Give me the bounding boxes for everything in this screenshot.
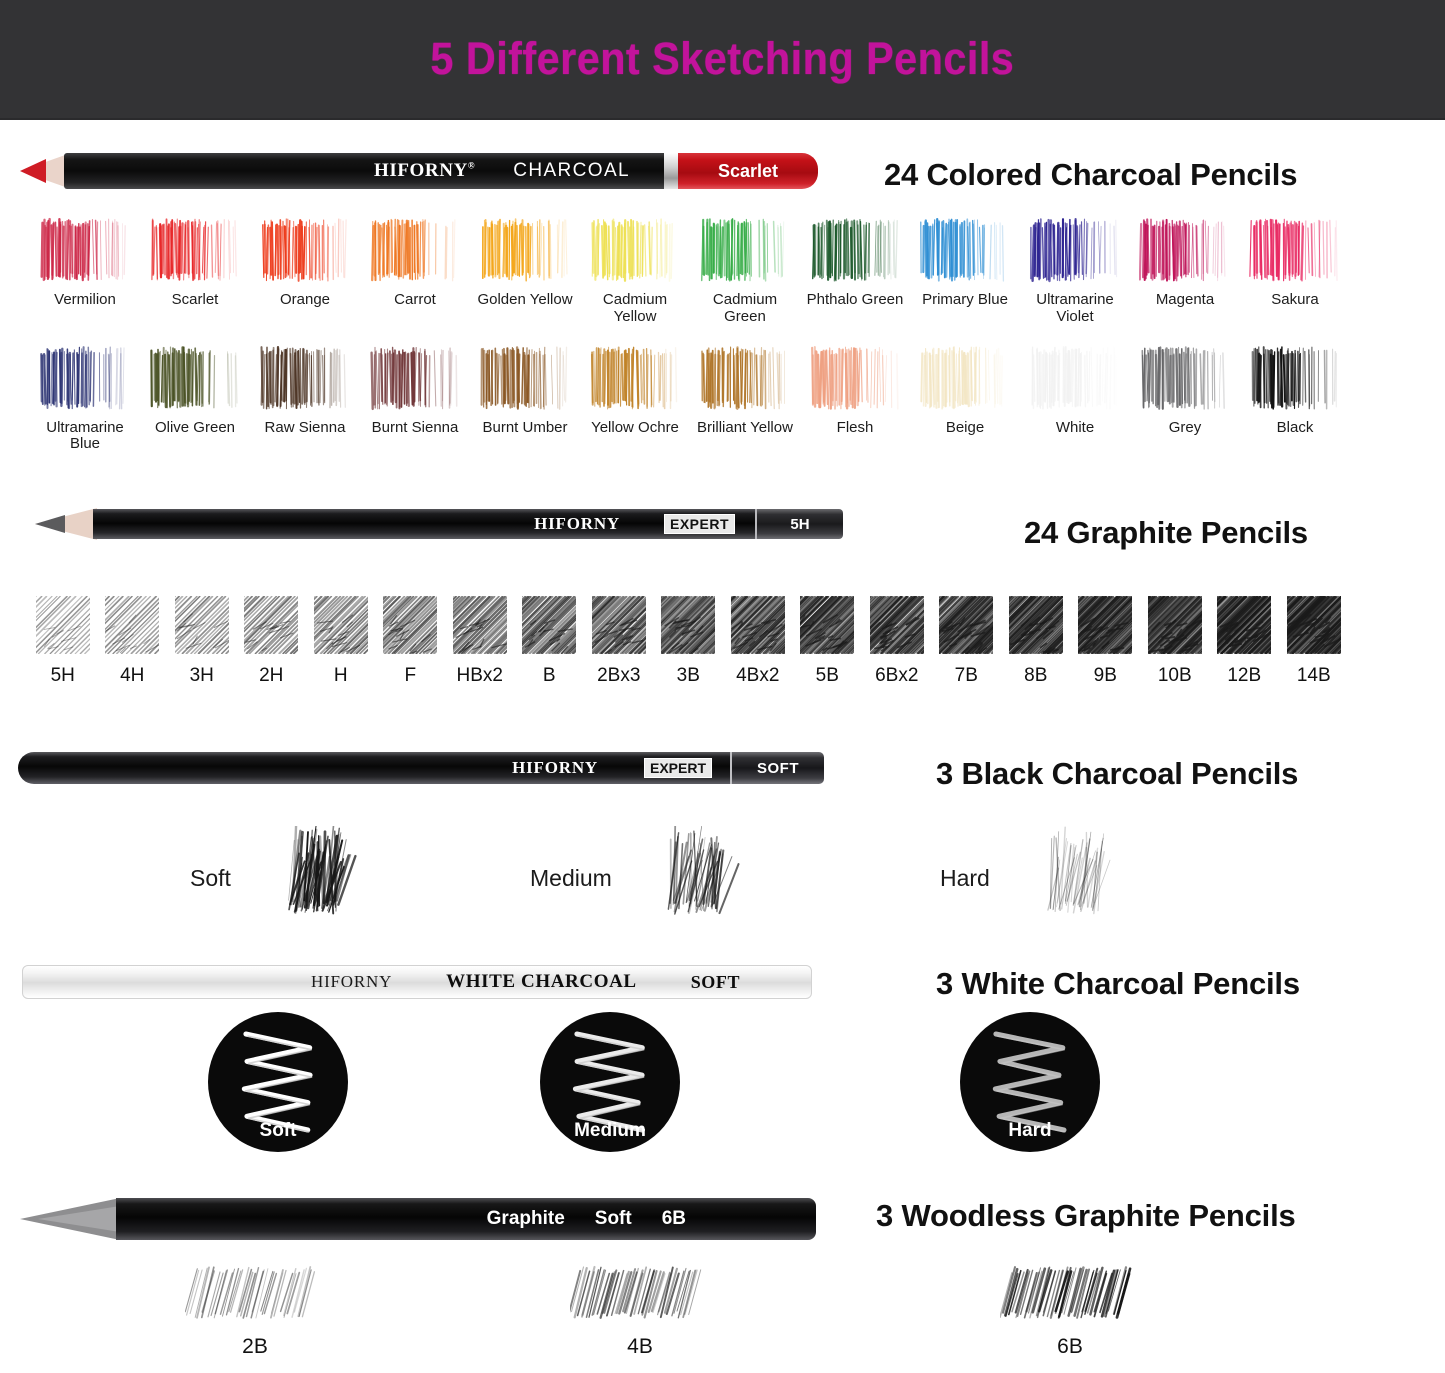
charcoal-sample: Medium bbox=[530, 826, 745, 931]
woodless-sample-mark bbox=[570, 1262, 710, 1329]
graphite-swatch-mark bbox=[661, 596, 715, 654]
color-swatch: Orange bbox=[250, 214, 360, 326]
graphite-swatch-label: 3B bbox=[677, 665, 700, 687]
color-swatch-mark bbox=[149, 342, 241, 414]
color-swatch: Brilliant Yellow bbox=[690, 342, 800, 454]
black-charcoal-sample-row: SoftMediumHard bbox=[0, 826, 1445, 936]
woodless-sample: 6B bbox=[1000, 1262, 1140, 1359]
pencil-line-badge: EXPERT bbox=[664, 514, 735, 534]
graphite-swatch-mark bbox=[592, 596, 646, 654]
graphite-swatch: 3H bbox=[167, 596, 237, 687]
color-swatch-label: Golden Yellow bbox=[473, 292, 577, 309]
color-swatch-mark bbox=[259, 342, 351, 414]
black-charcoal-pencil-image: HIFORNY EXPERT SOFT bbox=[18, 748, 818, 792]
graphite-swatch-label: HBx2 bbox=[457, 665, 503, 687]
woodless-sample-label: 2B bbox=[242, 1335, 268, 1359]
pencil-grade-label: 6B bbox=[662, 1208, 686, 1230]
heading-woodless-graphite: 3 Woodless Graphite Pencils bbox=[876, 1198, 1296, 1234]
graphite-swatch-mark bbox=[1009, 596, 1063, 654]
graphite-swatch-label: 4Bx2 bbox=[736, 665, 779, 687]
graphite-swatch: 10B bbox=[1140, 596, 1210, 687]
graphite-swatch: 7B bbox=[932, 596, 1002, 687]
graphite-swatch-label: 14B bbox=[1297, 665, 1331, 687]
color-swatch: Magenta bbox=[1130, 214, 1240, 326]
color-swatch-mark bbox=[479, 342, 571, 414]
graphite-swatch: H bbox=[306, 596, 376, 687]
graphite-swatch: HBx2 bbox=[445, 596, 515, 687]
color-swatch-mark bbox=[919, 214, 1011, 286]
pencil-graphite-cone-inner bbox=[38, 1206, 120, 1232]
pencil-body: HIFORNY EXPERT bbox=[18, 752, 730, 784]
color-swatch: Phthalo Green bbox=[800, 214, 910, 326]
white-charcoal-sample: Soft bbox=[208, 1012, 348, 1152]
color-swatch-mark bbox=[809, 342, 901, 414]
color-swatch: Vermilion bbox=[30, 214, 140, 326]
color-swatch-label: Vermilion bbox=[33, 292, 137, 309]
woodless-sample-label: 4B bbox=[627, 1335, 653, 1359]
color-swatch-mark bbox=[919, 342, 1011, 414]
color-swatch-label: Primary Blue bbox=[913, 292, 1017, 309]
graphite-swatch-label: 8B bbox=[1024, 665, 1047, 687]
woodless-graphite-pencil-image: Graphite Soft 6B bbox=[20, 1192, 820, 1244]
charcoal-sample-label: Soft bbox=[190, 865, 231, 892]
pencil-grade-label: 5H bbox=[790, 516, 809, 533]
color-swatch-label: Cadmium Yellow bbox=[583, 292, 687, 326]
heading-white-charcoal: 3 White Charcoal Pencils bbox=[936, 966, 1300, 1002]
color-swatch: Golden Yellow bbox=[470, 214, 580, 326]
color-swatch-mark bbox=[39, 342, 131, 414]
color-swatch-label: Brilliant Yellow bbox=[693, 420, 797, 437]
pencil-line-badge: EXPERT bbox=[644, 758, 712, 778]
color-swatch-mark bbox=[1029, 342, 1121, 414]
color-swatch-label: Flesh bbox=[803, 420, 907, 437]
graphite-swatch-label: 7B bbox=[955, 665, 978, 687]
color-swatch-label: Sakura bbox=[1243, 292, 1347, 309]
color-swatch-label: Ultramarine Blue bbox=[33, 420, 137, 454]
color-swatch: Grey bbox=[1130, 342, 1240, 454]
color-swatch-mark bbox=[589, 214, 681, 286]
graphite-swatch-mark bbox=[453, 596, 507, 654]
color-swatch-mark bbox=[589, 342, 681, 414]
graphite-swatch-mark bbox=[105, 596, 159, 654]
graphite-swatch: 12B bbox=[1210, 596, 1280, 687]
heading-graphite: 24 Graphite Pencils bbox=[1024, 515, 1308, 551]
graphite-swatch-label: 5H bbox=[51, 665, 75, 687]
graphite-hatch-grid: 5H4H3H2HHFHBx2B2Bx33B4Bx25B6Bx27B8B9B10B… bbox=[28, 596, 1349, 687]
graphite-swatch-label: 3H bbox=[190, 665, 214, 687]
pencil-lead-tip bbox=[35, 515, 65, 533]
charcoal-sample: Hard bbox=[940, 826, 1123, 931]
pencil-grade-label: SOFT bbox=[757, 760, 799, 777]
graphite-swatch: 8B bbox=[1001, 596, 1071, 687]
graphite-swatch: 5B bbox=[793, 596, 863, 687]
graphite-swatch-label: 2Bx3 bbox=[597, 665, 640, 687]
heading-colored-charcoal: 24 Colored Charcoal Pencils bbox=[884, 157, 1297, 193]
charcoal-sample-label: Medium bbox=[530, 865, 612, 892]
color-swatch-label: Carrot bbox=[363, 292, 467, 309]
graphite-swatch-label: 12B bbox=[1227, 665, 1261, 687]
graphite-swatch-label: 9B bbox=[1094, 665, 1117, 687]
page-header: 5 Different Sketching Pencils bbox=[0, 0, 1445, 120]
color-swatch-label: Magenta bbox=[1133, 292, 1237, 309]
graphite-swatch: F bbox=[376, 596, 446, 687]
color-swatch-label: Burnt Umber bbox=[473, 420, 577, 437]
graphite-swatch-mark bbox=[1217, 596, 1271, 654]
graphite-swatch: 2Bx3 bbox=[584, 596, 654, 687]
graphite-swatch-label: 6Bx2 bbox=[875, 665, 918, 687]
color-swatch-label: Ultramarine Violet bbox=[1023, 292, 1127, 326]
graphite-swatch-mark bbox=[1148, 596, 1202, 654]
white-charcoal-pencil-image: HIFORNY WHITE CHARCOAL SOFT bbox=[22, 962, 822, 1006]
pencil-brand: HIFORNY bbox=[512, 758, 598, 778]
white-charcoal-sample: Hard bbox=[960, 1012, 1100, 1152]
graphite-swatch-mark bbox=[175, 596, 229, 654]
color-swatch-mark bbox=[1249, 342, 1341, 414]
colored-swatch-grid: VermilionScarletOrangeCarrotGolden Yello… bbox=[30, 214, 1360, 453]
pencil-color-end: Scarlet bbox=[678, 153, 818, 189]
graphite-swatch-mark bbox=[383, 596, 437, 654]
charcoal-sample-mark bbox=[239, 826, 364, 931]
color-swatch: Sakura bbox=[1240, 214, 1350, 326]
graphite-swatch: B bbox=[515, 596, 585, 687]
pencil-hardness-label: Soft bbox=[595, 1208, 632, 1230]
pencil-grade-label: SOFT bbox=[691, 972, 740, 993]
pencil-type-label: Graphite bbox=[487, 1208, 565, 1230]
graphite-swatch: 6Bx2 bbox=[862, 596, 932, 687]
color-swatch: Carrot bbox=[360, 214, 470, 326]
white-charcoal-sample-label: Medium bbox=[574, 1120, 646, 1152]
color-swatch: Ultramarine Violet bbox=[1020, 214, 1130, 326]
pencil-grade-label: Scarlet bbox=[718, 161, 778, 182]
pencil-type-label: CHARCOAL bbox=[513, 160, 630, 182]
color-swatch-mark bbox=[1139, 214, 1231, 286]
color-swatch: Flesh bbox=[800, 342, 910, 454]
color-swatch: Burnt Umber bbox=[470, 342, 580, 454]
woodless-sample: 4B bbox=[570, 1262, 710, 1359]
color-swatch-mark bbox=[39, 214, 131, 286]
heading-black-charcoal: 3 Black Charcoal Pencils bbox=[936, 756, 1298, 792]
pencil-lead-tip bbox=[20, 159, 46, 183]
pencil-brand: HIFORNY bbox=[311, 972, 392, 992]
graphite-swatch-label: B bbox=[543, 665, 556, 687]
woodless-sample-mark bbox=[185, 1262, 325, 1329]
color-swatch-mark bbox=[369, 342, 461, 414]
graphite-pencil-image: HIFORNY EXPERT 5H bbox=[35, 500, 830, 550]
woodless-sample: 2B bbox=[185, 1262, 325, 1359]
graphite-swatch-mark bbox=[314, 596, 368, 654]
color-swatch-mark bbox=[699, 214, 791, 286]
white-charcoal-sample-row: SoftMediumHard bbox=[0, 1012, 1445, 1172]
color-swatch: Olive Green bbox=[140, 342, 250, 454]
graphite-swatch-label: 2H bbox=[259, 665, 283, 687]
color-swatch-mark bbox=[1249, 214, 1341, 286]
page-title: 5 Different Sketching Pencils bbox=[431, 33, 1015, 85]
color-swatch-label: Scarlet bbox=[143, 292, 247, 309]
graphite-swatch-label: 4H bbox=[120, 665, 144, 687]
graphite-swatch-mark bbox=[731, 596, 785, 654]
graphite-swatch-mark bbox=[244, 596, 298, 654]
graphite-swatch-label: 5B bbox=[816, 665, 839, 687]
color-swatch: Cadmium Green bbox=[690, 214, 800, 326]
color-swatch: White bbox=[1020, 342, 1130, 454]
charcoal-sample-mark bbox=[620, 826, 745, 931]
graphite-swatch-label: 10B bbox=[1158, 665, 1192, 687]
charcoal-sample-label: Hard bbox=[940, 865, 990, 892]
pencil-grade-band: 5H bbox=[755, 509, 843, 539]
graphite-swatch: 14B bbox=[1279, 596, 1349, 687]
color-swatch: Scarlet bbox=[140, 214, 250, 326]
color-swatch: Raw Sienna bbox=[250, 342, 360, 454]
graphite-swatch-mark bbox=[1287, 596, 1341, 654]
graphite-swatch-mark bbox=[1078, 596, 1132, 654]
woodless-sample-label: 6B bbox=[1057, 1335, 1083, 1359]
color-swatch-mark bbox=[1139, 342, 1231, 414]
pencil-brand: HIFORNY bbox=[534, 514, 620, 534]
color-swatch-mark bbox=[809, 214, 901, 286]
swatch-row-1: VermilionScarletOrangeCarrotGolden Yello… bbox=[30, 214, 1360, 326]
color-swatch-mark bbox=[259, 214, 351, 286]
color-swatch: Black bbox=[1240, 342, 1350, 454]
pencil-body: HIFORNY® CHARCOAL bbox=[64, 153, 664, 189]
color-swatch-label: Raw Sienna bbox=[253, 420, 357, 437]
color-swatch: Yellow Ochre bbox=[580, 342, 690, 454]
woodless-graphite-sample-row: 2B4B6B bbox=[0, 1262, 1445, 1372]
pencil-body: Graphite Soft 6B bbox=[116, 1198, 816, 1240]
color-swatch-mark bbox=[1029, 214, 1121, 286]
color-swatch: Beige bbox=[910, 342, 1020, 454]
graphite-swatch-label: F bbox=[404, 665, 416, 687]
pencil-body: HIFORNY EXPERT bbox=[93, 509, 755, 539]
graphite-swatch-label: H bbox=[334, 665, 348, 687]
color-swatch-mark bbox=[479, 214, 571, 286]
pencil-body: HIFORNY WHITE CHARCOAL SOFT bbox=[22, 965, 812, 999]
graphite-swatch-mark bbox=[939, 596, 993, 654]
pencil-type-label: WHITE CHARCOAL bbox=[446, 971, 637, 993]
swatch-row-2: Ultramarine BlueOlive GreenRaw SiennaBur… bbox=[30, 342, 1360, 454]
graphite-swatch: 2H bbox=[237, 596, 307, 687]
color-swatch-label: Phthalo Green bbox=[803, 292, 907, 309]
graphite-swatch: 5H bbox=[28, 596, 98, 687]
color-swatch-label: White bbox=[1023, 420, 1127, 437]
white-charcoal-sample-label: Hard bbox=[1008, 1120, 1051, 1152]
color-swatch-label: Burnt Sienna bbox=[363, 420, 467, 437]
charcoal-sample: Soft bbox=[190, 826, 364, 931]
color-swatch: Cadmium Yellow bbox=[580, 214, 690, 326]
white-charcoal-sample-label: Soft bbox=[260, 1120, 297, 1152]
white-charcoal-sample: Medium bbox=[540, 1012, 680, 1152]
woodless-sample-mark bbox=[1000, 1262, 1140, 1329]
graphite-swatch-mark bbox=[800, 596, 854, 654]
graphite-swatch: 9B bbox=[1071, 596, 1141, 687]
color-swatch-label: Cadmium Green bbox=[693, 292, 797, 326]
color-swatch: Burnt Sienna bbox=[360, 342, 470, 454]
charcoal-sample-mark bbox=[998, 826, 1123, 931]
color-swatch: Primary Blue bbox=[910, 214, 1020, 326]
color-swatch-mark bbox=[369, 214, 461, 286]
graphite-swatch: 3B bbox=[654, 596, 724, 687]
color-swatch-label: Yellow Ochre bbox=[583, 420, 687, 437]
color-swatch-mark bbox=[699, 342, 791, 414]
colored-charcoal-pencil-image: HIFORNY® CHARCOAL Scarlet bbox=[20, 140, 820, 202]
graphite-swatch-mark bbox=[36, 596, 90, 654]
color-swatch-mark bbox=[149, 214, 241, 286]
pencil-ferrule bbox=[664, 153, 678, 189]
color-swatch-label: Orange bbox=[253, 292, 357, 309]
color-swatch-label: Black bbox=[1243, 420, 1347, 437]
graphite-swatch: 4H bbox=[98, 596, 168, 687]
color-swatch-label: Grey bbox=[1133, 420, 1237, 437]
pencil-brand: HIFORNY® bbox=[374, 160, 475, 182]
color-swatch-label: Olive Green bbox=[143, 420, 247, 437]
color-swatch: Ultramarine Blue bbox=[30, 342, 140, 454]
graphite-swatch: 4Bx2 bbox=[723, 596, 793, 687]
graphite-swatch-mark bbox=[870, 596, 924, 654]
pencil-grade-band: SOFT bbox=[730, 752, 824, 784]
graphite-swatch-mark bbox=[522, 596, 576, 654]
color-swatch-label: Beige bbox=[913, 420, 1017, 437]
